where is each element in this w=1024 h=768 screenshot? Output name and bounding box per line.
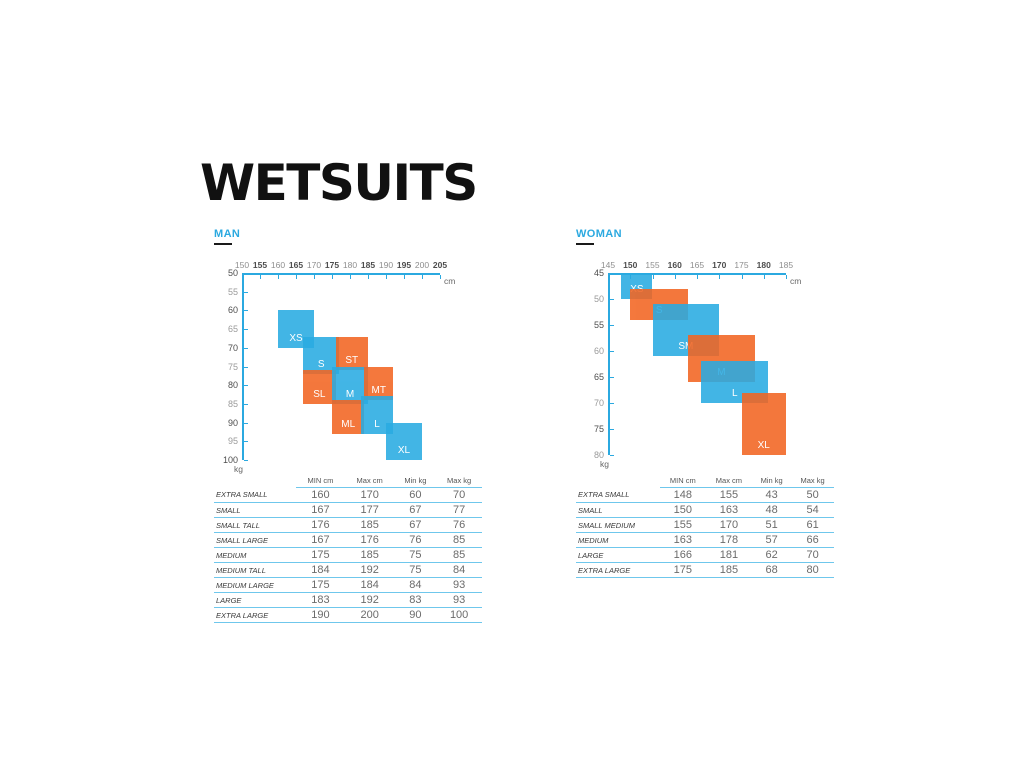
man-y-tick-label: 70 [218,343,238,353]
man-x-tick [296,275,297,279]
man-y-tick-label: 75 [218,362,238,372]
man-y-tick [244,310,248,311]
woman-max-kg-value: 70 [791,548,834,563]
man-max-kg-value: 70 [436,488,482,503]
man-size-name: EXTRA SMALL [214,488,296,503]
man-size-box-label: SL [313,389,325,400]
man-y-tick-label: 90 [218,418,238,428]
man-min-kg-value: 90 [394,608,436,623]
woman-y-tick-label: 50 [584,294,604,304]
woman-y-tick [610,429,614,430]
man-max-cm-value: 177 [345,503,395,518]
woman-min-kg-value: 62 [752,548,791,563]
man-size-box-label: M [346,389,354,400]
man-min-kg-value: 76 [394,533,436,548]
man-x-tick [314,275,315,279]
woman-size-box-xl[interactable]: XL [742,393,787,455]
man-x-tick-label: 195 [397,260,411,270]
man-x-tick [350,275,351,279]
man-y-tick [244,329,248,330]
table-row: MEDIUM1751857585 [214,548,482,563]
man-min-cm-value: 176 [296,518,345,533]
man-y-tick [244,367,248,368]
woman-y-tick-label: 60 [584,346,604,356]
man-y-tick-label: 85 [218,399,238,409]
woman-min-cm-value: 163 [660,533,706,548]
man-y-tick [244,423,248,424]
table-row: MEDIUM LARGE1751848493 [214,578,482,593]
man-max-cm-value: 185 [345,518,395,533]
man-x-tick [440,275,441,279]
man-y-tick-label: 65 [218,324,238,334]
table-row: SMALL1671776777 [214,503,482,518]
woman-x-tick-label: 160 [668,260,682,270]
man-min-cm-value: 167 [296,503,345,518]
man-max-cm-value: 176 [345,533,395,548]
woman-x-tick [608,275,609,279]
woman-y-axis-unit: kg [600,459,609,469]
table-row: LARGE1661816270 [576,548,834,563]
man-x-tick [278,275,279,279]
man-y-tick-label: 95 [218,436,238,446]
man-min-kg-value: 83 [394,593,436,608]
woman-y-axis-line [608,273,610,455]
woman-max-cm-value: 170 [706,518,752,533]
man-heading-rule [214,243,232,245]
woman-x-tick [719,275,720,279]
page-title: WETSUITS [200,158,477,208]
woman-max-cm-value: 155 [706,488,752,503]
woman-table-col-header-3: Max kg [791,475,834,488]
man-size-box-label: ML [341,419,355,430]
table-row: SMALL1501634854 [576,503,834,518]
man-x-tick-label: 200 [415,260,429,270]
woman-x-tick-label: 175 [734,260,748,270]
woman-max-cm-value: 181 [706,548,752,563]
man-size-box-mt[interactable]: MT [364,367,393,401]
woman-max-cm-value: 163 [706,503,752,518]
man-x-tick-label: 175 [325,260,339,270]
man-x-tick-label: 165 [289,260,303,270]
man-min-cm-value: 175 [296,578,345,593]
woman-y-tick-label: 70 [584,398,604,408]
man-max-cm-value: 200 [345,608,395,623]
man-y-tick [244,292,248,293]
man-x-tick [368,275,369,279]
man-table-corner-cell [214,475,296,488]
man-min-kg-value: 75 [394,563,436,578]
table-row: MEDIUM TALL1841927584 [214,563,482,578]
table-row: SMALL LARGE1671767685 [214,533,482,548]
woman-y-tick [610,325,614,326]
woman-table-col-header-1: Max cm [706,475,752,488]
man-x-tick-label: 180 [343,260,357,270]
man-max-kg-value: 76 [436,518,482,533]
woman-min-cm-value: 148 [660,488,706,503]
man-table-col-header-1: Max cm [345,475,395,488]
man-size-box-label: L [374,419,380,430]
woman-min-cm-value: 150 [660,503,706,518]
woman-min-kg-value: 48 [752,503,791,518]
man-x-tick-label: 170 [307,260,321,270]
woman-x-tick-label: 150 [623,260,637,270]
man-x-tick [332,275,333,279]
man-x-tick [386,275,387,279]
man-min-kg-value: 60 [394,488,436,503]
woman-size-chart: 1451501551601651701751801854550556065707… [576,257,826,477]
woman-max-cm-value: 178 [706,533,752,548]
man-x-tick [422,275,423,279]
woman-size-name: EXTRA SMALL [576,488,660,503]
man-min-cm-value: 175 [296,548,345,563]
man-size-name: SMALL TALL [214,518,296,533]
man-size-box-label: XL [398,445,410,456]
woman-size-name: EXTRA LARGE [576,563,660,578]
man-x-axis-unit: cm [444,276,455,286]
man-x-tick-label: 205 [433,260,447,270]
woman-table-col-header-2: Min kg [752,475,791,488]
woman-min-cm-value: 155 [660,518,706,533]
man-y-tick-label: 55 [218,287,238,297]
man-size-box-label: ST [345,355,358,366]
man-min-kg-value: 67 [394,518,436,533]
man-size-name: MEDIUM TALL [214,563,296,578]
woman-max-cm-value: 185 [706,563,752,578]
woman-table-corner-cell [576,475,660,488]
woman-min-kg-value: 57 [752,533,791,548]
table-row: EXTRA LARGE1751856880 [576,563,834,578]
woman-y-tick-label: 75 [584,424,604,434]
table-row: LARGE1831928393 [214,593,482,608]
woman-y-tick [610,299,614,300]
woman-y-tick [610,377,614,378]
woman-min-cm-value: 166 [660,548,706,563]
man-y-tick [244,404,248,405]
woman-min-kg-value: 43 [752,488,791,503]
man-table-col-header-2: Min kg [394,475,436,488]
man-size-box-label: MT [372,385,386,396]
man-y-tick-label: 80 [218,380,238,390]
man-size-name: MEDIUM LARGE [214,578,296,593]
man-max-kg-value: 85 [436,548,482,563]
man-max-kg-value: 100 [436,608,482,623]
woman-min-kg-value: 51 [752,518,791,533]
woman-table-header-row: MIN cmMax cmMin kgMax kg [576,475,834,488]
woman-y-tick [610,403,614,404]
man-size-box-ml[interactable]: ML [332,400,364,434]
man-table-col-header-0: MIN cm [296,475,345,488]
woman-y-tick-label: 45 [584,268,604,278]
woman-x-tick [675,275,676,279]
woman-panel: WOMAN 1451501551601651701751801854550556… [576,228,826,477]
man-max-kg-value: 93 [436,593,482,608]
woman-y-tick-label: 65 [584,372,604,382]
man-x-tick [404,275,405,279]
man-y-tick-label: 60 [218,305,238,315]
woman-size-name: LARGE [576,548,660,563]
man-y-axis-unit: kg [234,464,243,474]
woman-x-tick [786,275,787,279]
table-row: SMALL TALL1761856776 [214,518,482,533]
man-min-kg-value: 75 [394,548,436,563]
woman-x-tick-label: 180 [757,260,771,270]
man-max-kg-value: 85 [436,533,482,548]
man-y-tick [244,441,248,442]
man-min-cm-value: 183 [296,593,345,608]
man-size-name: SMALL [214,503,296,518]
man-size-name: EXTRA LARGE [214,608,296,623]
man-max-kg-value: 84 [436,563,482,578]
woman-size-box-label: L [732,388,738,399]
woman-min-cm-value: 175 [660,563,706,578]
man-table-col-header-3: Max kg [436,475,482,488]
man-max-cm-value: 170 [345,488,395,503]
woman-size-box-label: XL [758,440,770,451]
man-max-kg-value: 77 [436,503,482,518]
woman-y-tick-label: 55 [584,320,604,330]
man-table-header-row: MIN cmMax cmMin kgMax kg [214,475,482,488]
woman-y-tick [610,273,614,274]
woman-y-tick [610,455,614,456]
man-max-cm-value: 184 [345,578,395,593]
man-heading: MAN [214,228,480,240]
man-max-kg-value: 93 [436,578,482,593]
woman-x-tick [653,275,654,279]
man-size-box-sl[interactable]: SL [303,370,335,404]
table-row: EXTRA SMALL1601706070 [214,488,482,503]
woman-size-table: MIN cmMax cmMin kgMax kgEXTRA SMALL14815… [576,475,834,578]
woman-x-tick [742,275,743,279]
woman-x-tick-label: 155 [645,260,659,270]
woman-x-axis-unit: cm [790,276,801,286]
man-x-tick [260,275,261,279]
man-size-table: MIN cmMax cmMin kgMax kgEXTRA SMALL16017… [214,475,482,623]
man-size-name: LARGE [214,593,296,608]
man-x-tick-label: 155 [253,260,267,270]
man-x-tick-label: 190 [379,260,393,270]
man-min-kg-value: 84 [394,578,436,593]
man-y-tick-label: 50 [218,268,238,278]
man-min-cm-value: 184 [296,563,345,578]
man-y-tick [244,273,248,274]
woman-max-kg-value: 66 [791,533,834,548]
man-size-name: MEDIUM [214,548,296,563]
man-size-box-st[interactable]: ST [336,337,368,371]
man-x-tick [242,275,243,279]
woman-x-tick [764,275,765,279]
man-size-box-label: S [318,359,325,370]
table-row: MEDIUM1631785766 [576,533,834,548]
woman-max-kg-value: 50 [791,488,834,503]
man-x-tick-label: 160 [271,260,285,270]
man-x-tick-label: 185 [361,260,375,270]
table-row: SMALL MEDIUM1551705161 [576,518,834,533]
table-row: EXTRA SMALL1481554350 [576,488,834,503]
man-max-cm-value: 192 [345,563,395,578]
man-max-cm-value: 192 [345,593,395,608]
woman-max-kg-value: 61 [791,518,834,533]
man-min-cm-value: 190 [296,608,345,623]
woman-heading: WOMAN [576,228,826,240]
woman-x-tick [697,275,698,279]
man-size-box-label: XS [289,333,302,344]
man-y-tick [244,385,248,386]
man-size-name: SMALL LARGE [214,533,296,548]
woman-size-name: MEDIUM [576,533,660,548]
woman-max-kg-value: 80 [791,563,834,578]
woman-size-name: SMALL MEDIUM [576,518,660,533]
table-row: EXTRA LARGE19020090100 [214,608,482,623]
man-size-chart: 1501551601651701751801851901952002055055… [214,257,480,482]
woman-table-col-header-0: MIN cm [660,475,706,488]
woman-x-tick-label: 185 [779,260,793,270]
man-min-cm-value: 160 [296,488,345,503]
woman-heading-rule [576,243,594,245]
man-panel: MAN 150155160165170175180185190195200205… [214,228,480,482]
woman-max-kg-value: 54 [791,503,834,518]
woman-size-name: SMALL [576,503,660,518]
woman-y-tick [610,351,614,352]
man-min-cm-value: 167 [296,533,345,548]
man-min-kg-value: 67 [394,503,436,518]
woman-x-tick-label: 170 [712,260,726,270]
man-y-tick [244,348,248,349]
woman-x-tick-label: 165 [690,260,704,270]
woman-min-kg-value: 68 [752,563,791,578]
man-size-box-xl[interactable]: XL [386,423,422,460]
man-max-cm-value: 185 [345,548,395,563]
man-x-axis-line [242,273,440,275]
man-y-tick [244,460,248,461]
